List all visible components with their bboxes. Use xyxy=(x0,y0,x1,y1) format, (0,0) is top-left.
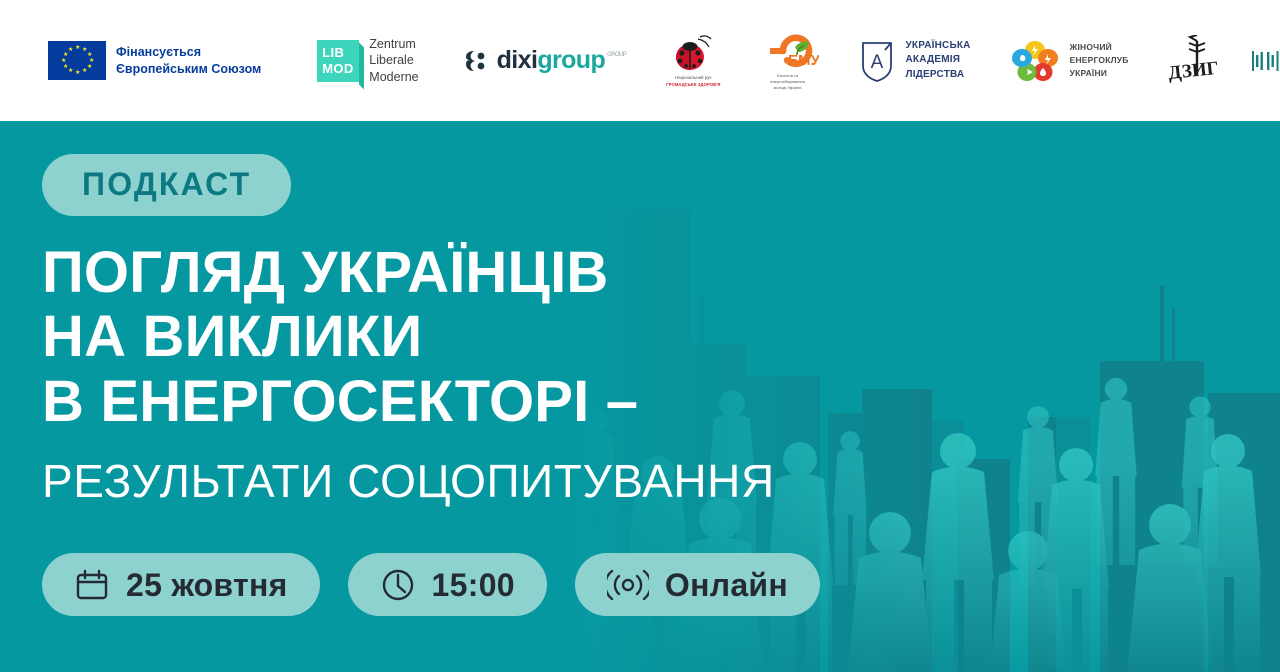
partner-logo-bar: Фінансується Європейським Союзом LIB MOD… xyxy=(0,0,1280,121)
wec-text-line1: ЖІНОЧИЙ xyxy=(1070,41,1129,54)
logo-plato: PLATO xyxy=(1251,48,1280,74)
podcast-announcement-banner: Фінансується Європейським Союзом LIB MOD… xyxy=(0,0,1280,672)
logo-european-union: Фінансується Європейським Союзом xyxy=(48,41,261,80)
dixi-word: dixi xyxy=(497,46,538,74)
dixigroup-trademark: GROUP xyxy=(607,52,626,58)
logo-women-energy-club-ukraine: ЖІНОЧИЙ ЕНЕРГОКЛУБ УКРАЇНИ xyxy=(1009,37,1129,85)
logo-dzyga: ДЗИГА xyxy=(1167,35,1217,87)
emy-caption: Екологія та енергозбереження молоді Укра… xyxy=(770,73,805,91)
event-time-label: 15:00 xyxy=(432,569,515,601)
event-details-row: 25 жовтня 15:00 xyxy=(42,553,848,616)
logo-emy: ЕМУ Екологія та енергозбереження молоді … xyxy=(757,31,819,91)
wec-text-line3: УКРАЇНИ xyxy=(1070,67,1129,80)
emy-icon: ЕМУ xyxy=(757,31,819,71)
svg-text:ДЗИГА: ДЗИГА xyxy=(1167,56,1217,83)
calendar-icon xyxy=(74,567,110,603)
hero-section: ПОДКАСТ ПОГЛЯД УКРАЇНЦІВ НА ВИКЛИКИ В ЕН… xyxy=(0,121,1280,672)
logo-ukrainian-leadership-academy: A УКРАЇНСЬКА АКАДЕМІЯ ЛІДЕРСТВА xyxy=(857,38,971,84)
eu-text-line2: Європейським Союзом xyxy=(116,61,261,78)
libmod-icon: LIB MOD xyxy=(317,40,359,82)
headline-line-3: В ЕНЕРГОСЕКТОРІ – xyxy=(42,370,638,434)
event-date-pill: 25 жовтня xyxy=(42,553,320,616)
wec-text-line2: ЕНЕРГОКЛУБ xyxy=(1070,54,1129,67)
emy-caption-line2: енергозбереження xyxy=(770,79,805,85)
shield-a-icon: A xyxy=(857,38,897,84)
subheadline: РЕЗУЛЬТАТИ СОЦОПИТУВАННЯ xyxy=(42,458,775,504)
logo-hromadske-zdorovya: Національний рух ГРОМАДСЬКЕ ЗДОРОВ'Я xyxy=(666,33,720,88)
libmod-logo-text: Zentrum Liberale Moderne xyxy=(369,36,418,85)
ual-text-line3: ЛІДЕРСТВА xyxy=(906,68,971,83)
svg-text:ЕМУ: ЕМУ xyxy=(788,52,819,69)
headline: ПОГЛЯД УКРАЇНЦІВ НА ВИКЛИКИ В ЕНЕРГОСЕКТ… xyxy=(42,241,638,434)
ladybug-icon xyxy=(670,33,716,73)
libmod-mark-line2: MOD xyxy=(322,61,353,76)
eu-flag-icon xyxy=(48,41,106,80)
wec-logo-text: ЖІНОЧИЙ ЕНЕРГОКЛУБ УКРАЇНИ xyxy=(1070,41,1129,79)
event-time-pill: 15:00 xyxy=(348,553,547,616)
eu-logo-text: Фінансується Європейським Союзом xyxy=(116,44,261,78)
dzyga-icon: ДЗИГА xyxy=(1167,35,1217,87)
svg-text:A: A xyxy=(870,52,883,73)
libmod-text-line1: Zentrum xyxy=(369,36,418,52)
event-format-label: Онлайн xyxy=(665,569,788,601)
broadcast-icon xyxy=(607,567,649,603)
group-word: group xyxy=(537,46,605,74)
eu-text-line1: Фінансується xyxy=(116,44,261,61)
hero-content: ПОДКАСТ ПОГЛЯД УКРАЇНЦІВ НА ВИКЛИКИ В ЕН… xyxy=(42,121,942,672)
headline-line-2: НА ВИКЛИКИ xyxy=(42,305,638,369)
libmod-mark-line1: LIB xyxy=(322,45,344,60)
ual-logo-text: УКРАЇНСЬКА АКАДЕМІЯ ЛІДЕРСТВА xyxy=(906,39,971,83)
event-format-pill: Онлайн xyxy=(575,553,820,616)
clock-icon xyxy=(380,567,416,603)
ladybug-caption: Національний рух ГРОМАДСЬКЕ ЗДОРОВ'Я xyxy=(666,75,720,88)
ladybug-caption-line2: ГРОМАДСЬКЕ ЗДОРОВ'Я xyxy=(666,82,720,88)
dixigroup-icon xyxy=(463,48,489,74)
event-date-label: 25 жовтня xyxy=(126,569,288,601)
ual-text-line1: УКРАЇНСЬКА xyxy=(906,39,971,54)
ual-text-line2: АКАДЕМІЯ xyxy=(906,53,971,68)
logo-zentrum-liberale-moderne: LIB MOD Zentrum Liberale Moderne xyxy=(317,36,418,85)
libmod-text-line2: Liberale xyxy=(369,52,418,68)
plato-bars-icon xyxy=(1251,48,1280,74)
libmod-text-line3: Moderne xyxy=(369,69,418,85)
headline-line-1: ПОГЛЯД УКРАЇНЦІВ xyxy=(42,241,638,305)
flower-icon xyxy=(1009,37,1061,85)
logo-dixigroup: dixigroupGROUP xyxy=(463,46,627,75)
podcast-badge: ПОДКАСТ xyxy=(42,154,291,216)
dixigroup-wordmark: dixigroupGROUP xyxy=(497,46,627,75)
emy-caption-line3: молоді України xyxy=(770,85,805,91)
